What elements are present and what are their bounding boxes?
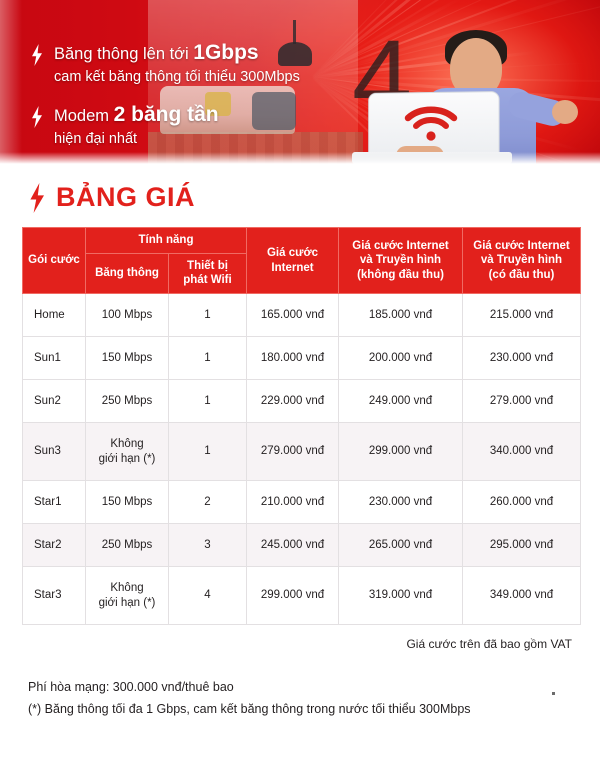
price-table: Gói cước Tính năng Giá cước Internet Giá… — [22, 227, 581, 625]
cell-internet-tv-with-receiver: 230.000 vnđ — [463, 337, 581, 380]
footer-notes: Phí hòa mạng: 300.000 vnđ/thuê bao (*) B… — [28, 677, 600, 721]
cell-internet-price: 210.000 vnđ — [247, 481, 339, 524]
banner-bullet-2-strong: 2 băng tần — [114, 103, 219, 126]
vat-note: Giá cước trên đã bao gồm VAT — [0, 637, 572, 651]
lightning-bolt-icon — [28, 183, 46, 213]
lightning-bolt-icon — [30, 44, 44, 66]
lightning-bolt-icon — [30, 106, 44, 128]
cell-internet-price: 180.000 vnđ — [247, 337, 339, 380]
cell-package: Sun2 — [23, 380, 86, 423]
header-internet-tv-no-receiver: Giá cước Internet và Truyền hình (không … — [339, 228, 463, 294]
cell-wifi-device: 1 — [169, 337, 247, 380]
cell-internet-tv-with-receiver: 215.000 vnđ — [463, 294, 581, 337]
cell-internet-tv-no-receiver: 200.000 vnđ — [339, 337, 463, 380]
banner-left-fade — [0, 0, 22, 166]
cell-package: Star1 — [23, 481, 86, 524]
header-wifi-device: Thiết bị phát Wifi — [169, 253, 247, 293]
header-row-1: Gói cước Tính năng Giá cước Internet Giá… — [23, 228, 581, 254]
banner-bullet-2-line1: Modem 2 băng tần — [54, 102, 219, 128]
banner-copy: Băng thông lên tới 1Gbps cam kết băng th… — [30, 40, 360, 165]
cell-internet-tv-with-receiver: 279.000 vnđ — [463, 380, 581, 423]
cell-internet-price: 165.000 vnđ — [247, 294, 339, 337]
cell-internet-tv-no-receiver: 249.000 vnđ — [339, 380, 463, 423]
cell-internet-price: 229.000 vnđ — [247, 380, 339, 423]
price-table-body: Home100 Mbps1165.000 vnđ185.000 vnđ215.0… — [23, 294, 581, 625]
cell-internet-tv-no-receiver: 185.000 vnđ — [339, 294, 463, 337]
cell-bandwidth: Không giới hạn (*) — [86, 423, 169, 481]
table-row: Sun1150 Mbps1180.000 vnđ200.000 vnđ230.0… — [23, 337, 581, 380]
banner-bullet-2: Modem 2 băng tần hiện đại nhất — [30, 102, 360, 148]
cell-bandwidth: Không giới hạn (*) — [86, 567, 169, 625]
cell-wifi-device: 1 — [169, 423, 247, 481]
price-table-wrapper: Gói cước Tính năng Giá cước Internet Giá… — [22, 227, 580, 625]
banner-bullet-1: Băng thông lên tới 1Gbps cam kết băng th… — [30, 40, 360, 86]
price-table-header: Gói cước Tính năng Giá cước Internet Giá… — [23, 228, 581, 294]
promo-banner: 4 Băng thông lên tới 1Gbps cam kết băng … — [0, 0, 600, 166]
bandwidth-footnote: (*) Băng thông tối đa 1 Gbps, cam kết bă… — [28, 699, 600, 721]
banner-bullet-1-strong: 1Gbps — [193, 41, 258, 64]
cell-wifi-device: 3 — [169, 524, 247, 567]
cell-internet-tv-no-receiver: 299.000 vnđ — [339, 423, 463, 481]
wifi-icon — [404, 104, 458, 144]
cell-internet-tv-with-receiver: 349.000 vnđ — [463, 567, 581, 625]
cell-internet-tv-with-receiver: 340.000 vnđ — [463, 423, 581, 481]
banner-bullet-1-line1: Băng thông lên tới 1Gbps — [54, 40, 300, 66]
table-row: Star1150 Mbps2210.000 vnđ230.000 vnđ260.… — [23, 481, 581, 524]
cell-bandwidth: 250 Mbps — [86, 524, 169, 567]
cell-internet-tv-with-receiver: 295.000 vnđ — [463, 524, 581, 567]
banner-bullet-1-prefix: Băng thông lên tới — [54, 45, 193, 63]
header-bandwidth: Băng thông — [86, 253, 169, 293]
cell-internet-price: 299.000 vnđ — [247, 567, 339, 625]
banner-bullet-2-prefix: Modem — [54, 107, 114, 125]
cell-bandwidth: 150 Mbps — [86, 337, 169, 380]
installation-fee-note: Phí hòa mạng: 300.000 vnđ/thuê bao — [28, 677, 600, 699]
banner-bullet-2-line2: hiện đại nhất — [54, 130, 219, 149]
cell-bandwidth: 150 Mbps — [86, 481, 169, 524]
cell-internet-tv-with-receiver: 260.000 vnđ — [463, 481, 581, 524]
table-row: Star2250 Mbps3245.000 vnđ265.000 vnđ295.… — [23, 524, 581, 567]
cell-internet-tv-no-receiver: 319.000 vnđ — [339, 567, 463, 625]
header-features-group: Tính năng — [86, 228, 247, 254]
cell-bandwidth: 100 Mbps — [86, 294, 169, 337]
scan-artifact-dot — [552, 692, 555, 695]
cell-package: Sun3 — [23, 423, 86, 481]
table-row: Sun2250 Mbps1229.000 vnđ249.000 vnđ279.0… — [23, 380, 581, 423]
table-row: Home100 Mbps1165.000 vnđ185.000 vnđ215.0… — [23, 294, 581, 337]
cell-wifi-device: 1 — [169, 380, 247, 423]
table-row: Star3Không giới hạn (*)4299.000 vnđ319.0… — [23, 567, 581, 625]
cell-package: Home — [23, 294, 86, 337]
section-title-row: BẢNG GIÁ — [28, 182, 600, 213]
cell-internet-price: 279.000 vnđ — [247, 423, 339, 481]
cell-internet-price: 245.000 vnđ — [247, 524, 339, 567]
table-row: Sun3Không giới hạn (*)1279.000 vnđ299.00… — [23, 423, 581, 481]
banner-bullet-1-line2: cam kết băng thông tối thiểu 300Mbps — [54, 68, 300, 87]
header-internet-price: Giá cước Internet — [247, 228, 339, 294]
page-title: BẢNG GIÁ — [56, 182, 195, 213]
header-package: Gói cước — [23, 228, 86, 294]
cell-wifi-device: 1 — [169, 294, 247, 337]
cell-internet-tv-no-receiver: 265.000 vnđ — [339, 524, 463, 567]
cell-package: Star3 — [23, 567, 86, 625]
header-internet-tv-with-receiver: Giá cước Internet và Truyền hình (có đầu… — [463, 228, 581, 294]
person-pointing-hand — [552, 100, 578, 124]
cell-wifi-device: 2 — [169, 481, 247, 524]
cell-package: Star2 — [23, 524, 86, 567]
cell-bandwidth: 250 Mbps — [86, 380, 169, 423]
cell-wifi-device: 4 — [169, 567, 247, 625]
cell-internet-tv-no-receiver: 230.000 vnđ — [339, 481, 463, 524]
cell-package: Sun1 — [23, 337, 86, 380]
